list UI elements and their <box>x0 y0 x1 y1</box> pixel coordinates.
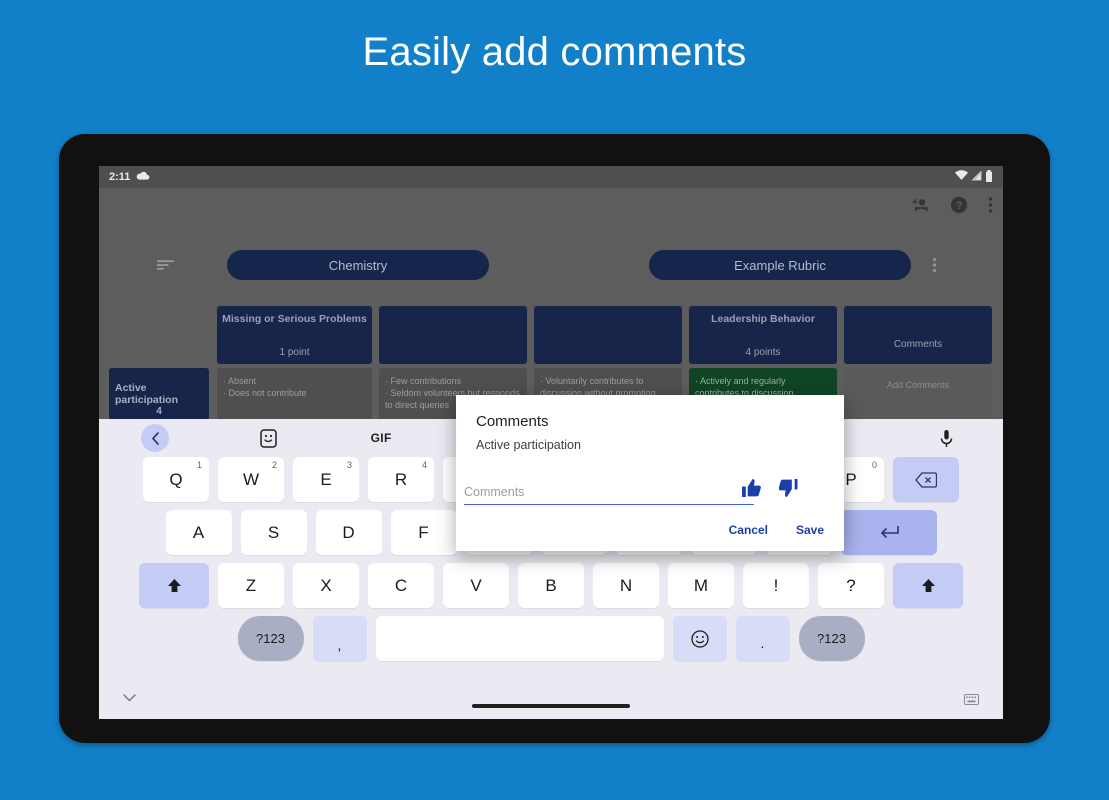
chip-example-rubric-label: Example Rubric <box>734 258 826 273</box>
rubric-level-cell[interactable]: · Absent · Does not contribute <box>217 368 372 420</box>
enter-icon[interactable] <box>841 510 937 555</box>
rubric-add-comments-cell[interactable]: Add Comments <box>844 368 992 420</box>
dialog-title: Comments <box>476 413 549 430</box>
page-title: Easily add comments <box>0 30 1109 75</box>
help-icon[interactable]: ? <box>950 196 968 219</box>
key-e[interactable]: 3E <box>293 457 359 502</box>
wifi-icon <box>955 170 968 184</box>
emoji-icon[interactable] <box>673 616 727 661</box>
key-f[interactable]: F <box>391 510 457 555</box>
rubric-header-comments[interactable]: Comments <box>844 306 992 364</box>
thumb-up-icon[interactable] <box>742 479 761 502</box>
chip-chemistry[interactable]: Chemistry <box>227 250 489 280</box>
feedback-buttons <box>742 479 798 502</box>
comments-dialog: Comments Active participation <box>456 395 844 551</box>
dialog-subtitle: Active participation <box>476 438 581 452</box>
key-r[interactable]: 4R <box>368 457 434 502</box>
key-q[interactable]: 1Q <box>143 457 209 502</box>
microphone-icon[interactable] <box>890 419 1003 457</box>
thumb-down-icon[interactable] <box>779 479 798 502</box>
symbols-key-left[interactable]: ?123 <box>238 616 304 661</box>
key-x[interactable]: X <box>293 563 359 608</box>
key-b[interactable]: B <box>518 563 584 608</box>
home-indicator[interactable] <box>472 704 630 708</box>
sticker-icon[interactable] <box>212 419 325 457</box>
gif-icon[interactable]: GIF <box>325 419 438 457</box>
key-d[interactable]: D <box>316 510 382 555</box>
rubric-header-cell[interactable] <box>379 306 527 364</box>
key-a[interactable]: A <box>166 510 232 555</box>
back-arrow-icon[interactable] <box>99 419 212 457</box>
chevron-down-icon[interactable] <box>123 689 136 707</box>
rubric-criterion-cell[interactable]: Active participation 4 <box>109 368 209 420</box>
rubric-overflow-menu-icon[interactable] <box>932 257 937 278</box>
overflow-menu-icon[interactable] <box>988 196 993 219</box>
key-c[interactable]: C <box>368 563 434 608</box>
chip-chemistry-label: Chemistry <box>329 258 388 273</box>
key-m[interactable]: M <box>668 563 734 608</box>
dialog-actions: Cancel Save <box>727 521 826 539</box>
chip-example-rubric[interactable]: Example Rubric <box>649 250 911 280</box>
tablet-device-frame: 2:11 <box>59 134 1050 743</box>
status-bar: 2:11 <box>99 166 1003 188</box>
key-exclamation[interactable]: ! <box>743 563 809 608</box>
key-z[interactable]: Z <box>218 563 284 608</box>
key-question[interactable]: ? <box>818 563 884 608</box>
sort-icon[interactable] <box>157 258 174 276</box>
rubric-app-content: ? Chemistry Example Rubric <box>99 188 1003 419</box>
save-button[interactable]: Save <box>794 521 826 539</box>
symbols-key-right[interactable]: ?123 <box>799 616 865 661</box>
key-space[interactable] <box>376 616 664 661</box>
key-s[interactable]: S <box>241 510 307 555</box>
battery-icon <box>985 170 993 185</box>
app-toolbar: ? <box>911 196 993 219</box>
keyboard-icon[interactable] <box>964 692 979 710</box>
shift-icon-right[interactable] <box>893 563 963 608</box>
rubric-chip-row: Chemistry Example Rubric <box>99 250 1003 280</box>
keyboard-row-3: Z X C V B N M ! ? <box>99 563 1003 608</box>
signal-icon <box>971 170 982 184</box>
keyboard-bottom-bar <box>99 683 1003 719</box>
key-w[interactable]: 2W <box>218 457 284 502</box>
add-person-icon[interactable] <box>911 197 930 219</box>
comments-input-wrapper <box>464 483 754 505</box>
backspace-icon[interactable] <box>893 457 959 502</box>
key-comma[interactable]: , <box>313 616 367 661</box>
key-v[interactable]: V <box>443 563 509 608</box>
keyboard-row-4: ?123 , . ?123 <box>99 616 1003 661</box>
status-bar-clock: 2:11 <box>109 171 130 183</box>
key-period[interactable]: . <box>736 616 790 661</box>
cloud-icon <box>136 170 150 184</box>
svg-text:?: ? <box>956 200 963 212</box>
rubric-header-cell[interactable]: Missing or Serious Problems 1 point <box>217 306 372 364</box>
device-screen: 2:11 <box>99 166 1003 719</box>
shift-icon-left[interactable] <box>139 563 209 608</box>
key-n[interactable]: N <box>593 563 659 608</box>
comments-input[interactable] <box>464 485 754 505</box>
cancel-button[interactable]: Cancel <box>727 521 770 539</box>
rubric-header-cell[interactable] <box>534 306 682 364</box>
rubric-header-cell[interactable]: Leadership Behavior 4 points <box>689 306 837 364</box>
rubric-header-row: Missing or Serious Problems 1 point Lead… <box>99 306 1003 364</box>
